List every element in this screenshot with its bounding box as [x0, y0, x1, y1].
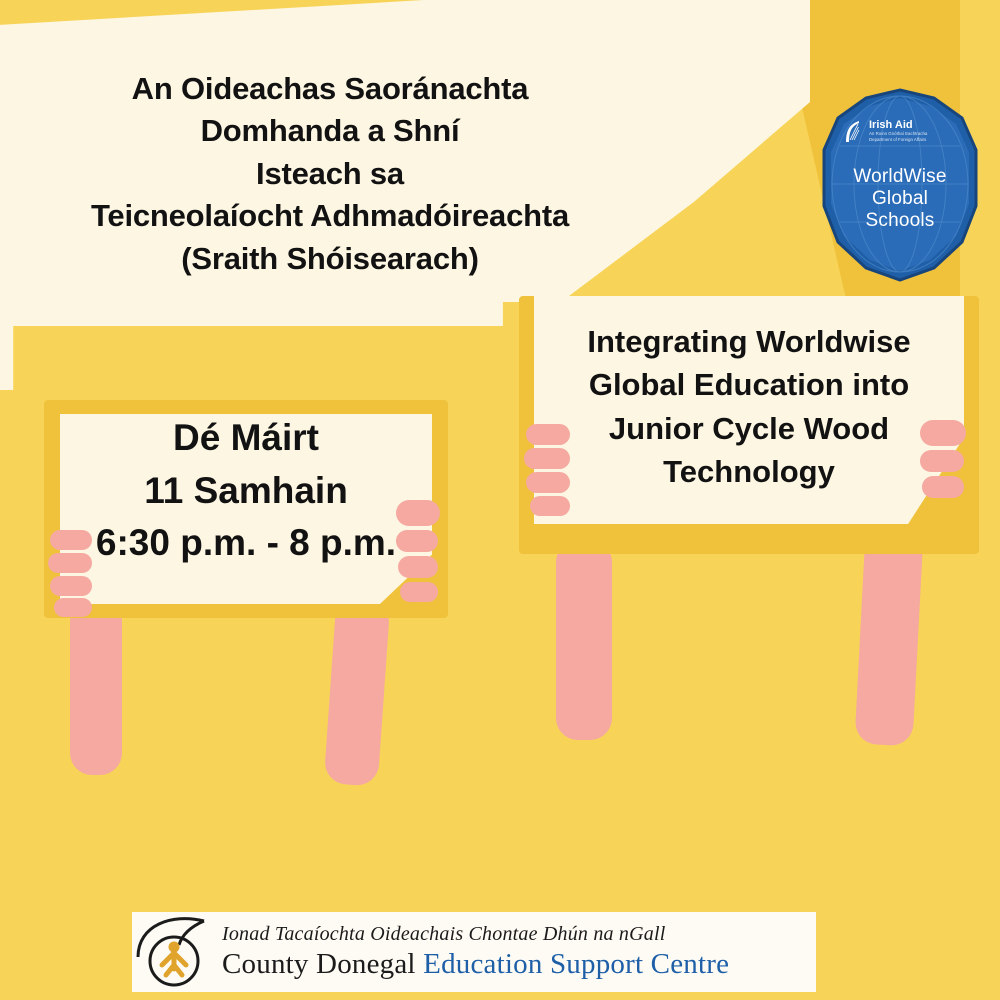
- footer-english-part-2: Education Support Centre: [423, 948, 729, 980]
- worldwise-global-schools-badge: Irish Aid An Roinn Gnóthaí Eachtracha De…: [822, 88, 978, 288]
- placard-irish-line-1: Dé Máirt: [44, 412, 448, 465]
- placard-english-line-4: Technology: [519, 450, 979, 493]
- footer-english-part-1: County Donegal: [222, 948, 416, 980]
- arm-right-person-b: [854, 529, 923, 747]
- irish-aid-sub-1: An Roinn Gnóthaí Eachtracha: [869, 131, 927, 137]
- arm-left-person-a: [70, 600, 122, 775]
- placard-english-line-3: Junior Cycle Wood: [519, 407, 979, 450]
- placard-irish-details: Dé Máirt 11 Samhain 6:30 p.m. - 8 p.m.: [44, 400, 448, 618]
- headline-line-3: Isteach sa: [0, 153, 680, 195]
- placard-english: Integrating Worldwise Global Education i…: [519, 296, 979, 554]
- placard-english-line-2: Global Education into: [519, 363, 979, 406]
- placard-english-line-1: Integrating Worldwise: [519, 320, 979, 363]
- headline-line-1: An Oideachas Saoránachta: [0, 68, 680, 110]
- headline-line-4: Teicneolaíocht Adhmadóireachta: [0, 195, 680, 237]
- badge-line-3: Schools: [822, 210, 978, 232]
- harp-icon: [842, 118, 864, 144]
- hand-left-placard-left: [44, 530, 92, 620]
- arm-left-person-b: [324, 598, 391, 786]
- placard-irish-line-2: 11 Samhain: [44, 465, 448, 518]
- hand-right-placard-right: [920, 420, 970, 520]
- headline-line-2: Domhanda a Shní: [0, 110, 680, 152]
- footer-english-name: County Donegal Education Support Centre: [222, 948, 816, 981]
- headline-text: An Oideachas Saoránachta Domhanda a Shní…: [0, 68, 680, 280]
- arm-right-person-a: [556, 540, 612, 740]
- education-centre-logo-icon: [132, 913, 218, 991]
- badge-text: WorldWise Global Schools: [822, 166, 978, 233]
- poster-canvas: An Oideachas Saoránachta Domhanda a Shní…: [0, 0, 1000, 1000]
- placard-irish-text: Dé Máirt 11 Samhain 6:30 p.m. - 8 p.m.: [44, 412, 448, 570]
- irish-aid-sub-2: Department of Foreign Affairs: [869, 137, 927, 143]
- footer-text: Ionad Tacaíochta Oideachais Chontae Dhún…: [218, 923, 816, 981]
- footer-logo-bar: Ionad Tacaíochta Oideachais Chontae Dhún…: [132, 912, 816, 992]
- irish-aid-lockup: Irish Aid An Roinn Gnóthaí Eachtracha De…: [842, 118, 962, 144]
- hand-left-placard-right: [396, 500, 444, 610]
- badge-line-2: Global: [822, 188, 978, 210]
- placard-irish-line-3: 6:30 p.m. - 8 p.m.: [44, 517, 448, 570]
- headline-line-5: (Sraith Shóisearach): [0, 238, 680, 280]
- badge-line-1: WorldWise: [822, 166, 978, 188]
- hand-right-placard-left: [520, 424, 570, 524]
- placard-english-text: Integrating Worldwise Global Education i…: [519, 320, 979, 494]
- irish-aid-label: Irish Aid: [869, 120, 927, 132]
- footer-irish-name: Ionad Tacaíochta Oideachais Chontae Dhún…: [222, 923, 816, 946]
